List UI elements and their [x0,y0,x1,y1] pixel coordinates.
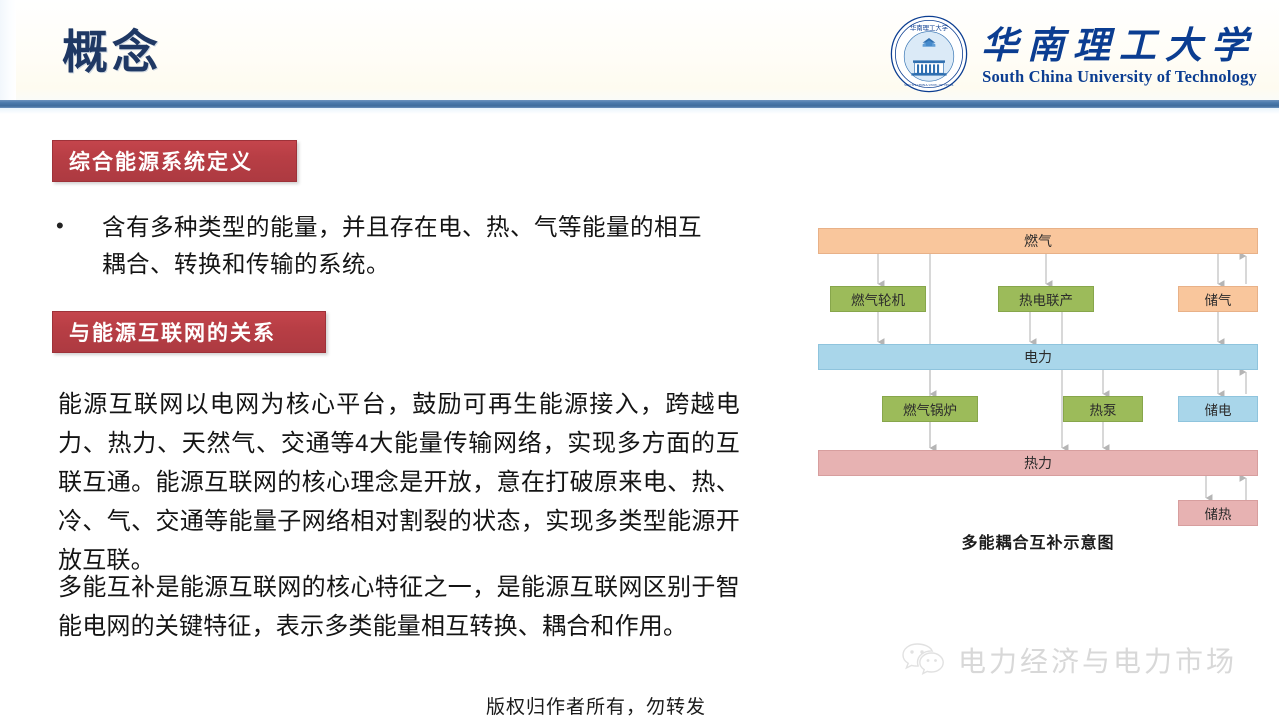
bullet-marker-icon: • [56,209,102,243]
watermark-text: 电力经济与电力市场 [958,640,1237,680]
wechat-icon [900,640,946,680]
diagram-caption: 多能耦合互补示意图 [818,529,1258,553]
diagram-bar-electricity: 电力 [818,344,1258,370]
diagram-bar-heat: 热力 [818,450,1258,476]
energy-coupling-diagram: 燃气 电力 热力 燃气轮机 热电联产 储气 燃气锅炉 热泵 储电 储热 [818,228,1258,528]
section-banner-relation: 与能源互联网的关系 [52,311,326,353]
section-banner-definition: 综合能源系统定义 [52,140,297,182]
svg-text:SOUTH CHINA UNIV. OF TECH.: SOUTH CHINA UNIV. OF TECH. [904,83,954,87]
slide-header: 概念 华南理工大学 SOUTH CHINA UNIV. OF TECH. [0,0,1279,108]
diagram-node-gas-storage: 储气 [1178,286,1258,312]
diagram-node-heat-storage: 储热 [1178,500,1258,526]
logo-name-cn: 华南理工大学 [981,21,1257,69]
header-divider-line [0,100,1279,108]
body-paragraph-1: 能源互联网以电网为核心平台，鼓励可再生能源接入，跨越电力、热力、天然气、交通等4… [58,385,740,580]
slide-canvas: 概念 华南理工大学 SOUTH CHINA UNIV. OF TECH. [0,0,1279,720]
diagram-arrows [818,228,1258,528]
diagram-node-gas-turbine: 燃气轮机 [830,286,926,312]
definition-bullet: • 含有多种类型的能量，并且存在电、热、气等能量的相互耦合、转换和传输的系统。 [56,209,716,283]
diagram-node-chp: 热电联产 [998,286,1094,312]
university-logo: 华南理工大学 SOUTH CHINA UNIV. OF TECH. 华南理工大学… [889,14,1257,94]
logo-name-en: South China University of Technology [982,67,1257,87]
svg-text:华南理工大学: 华南理工大学 [910,23,949,32]
header-divider-glow [0,108,1279,114]
copyright-notice: 版权归作者所有，勿转发 [486,692,706,719]
header-left-accent-bar [0,0,16,100]
diagram-bar-gas: 燃气 [818,228,1258,254]
logo-text: 华南理工大学 South China University of Technol… [981,21,1257,87]
body-paragraph-2: 多能互补是能源互联网的核心特征之一，是能源互联网区别于智能电网的关键特征，表示多… [58,568,740,646]
wechat-watermark: 电力经济与电力市场 [900,640,1237,680]
definition-bullet-text: 含有多种类型的能量，并且存在电、热、气等能量的相互耦合、转换和传输的系统。 [102,209,716,283]
page-title: 概念 [62,22,162,82]
diagram-node-heat-pump: 热泵 [1063,396,1143,422]
diagram-node-gas-boiler: 燃气锅炉 [882,396,978,422]
diagram-node-electricity-storage: 储电 [1178,396,1258,422]
university-seal-icon: 华南理工大学 SOUTH CHINA UNIV. OF TECH. [889,14,969,94]
